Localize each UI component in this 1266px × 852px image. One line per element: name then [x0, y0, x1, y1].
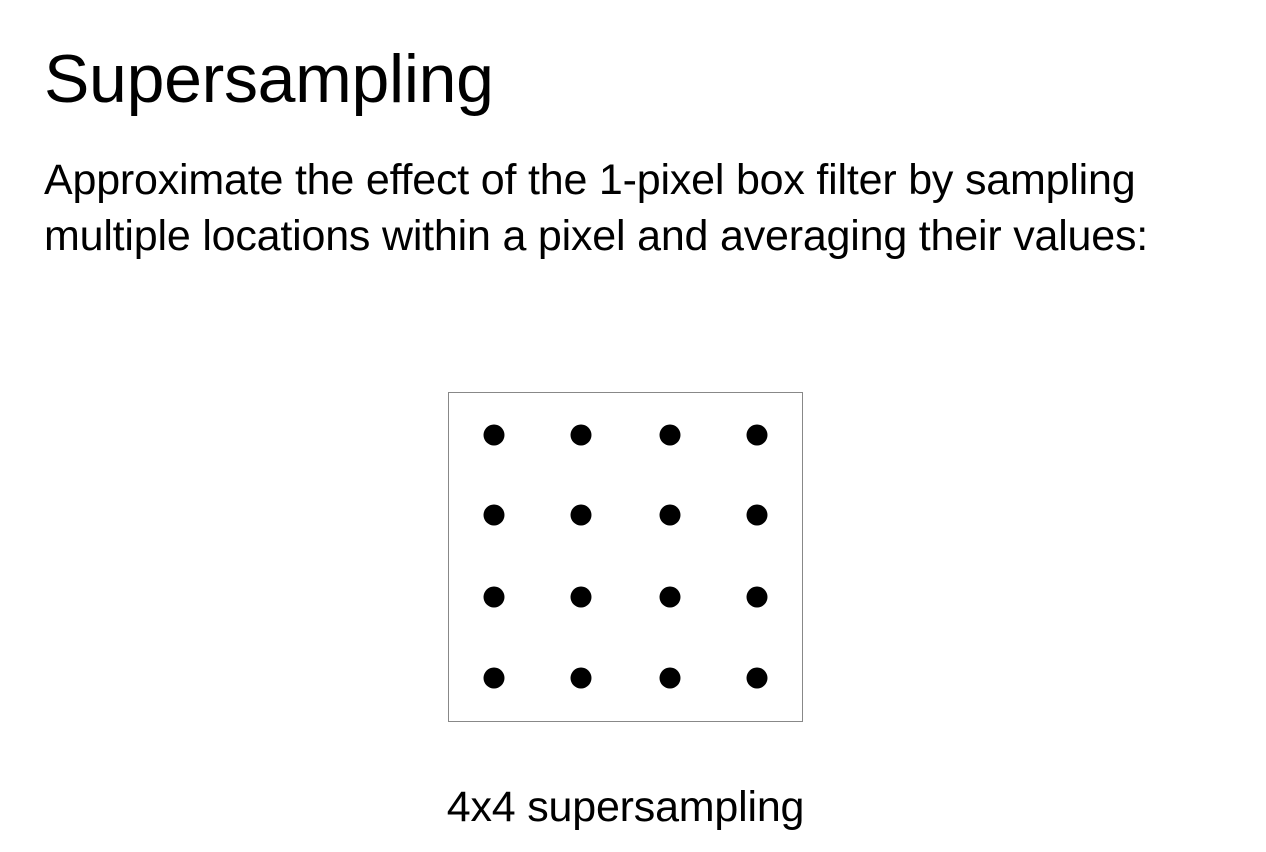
sample-point-dot	[659, 586, 680, 607]
sample-point-dot	[747, 424, 768, 445]
sample-point-dot	[571, 668, 592, 689]
sample-point-dot	[571, 505, 592, 526]
sample-point-dot	[571, 424, 592, 445]
sample-point-dot	[571, 586, 592, 607]
slide: Supersampling Approximate the effect of …	[0, 0, 1266, 852]
body-line-1: Approximate the effect of the 1-pixel bo…	[44, 152, 1249, 208]
sample-point-dot	[483, 668, 504, 689]
sample-point-dot	[483, 424, 504, 445]
figure-caption: 4x4 supersampling	[388, 782, 863, 832]
supersampling-figure: 4x4 supersampling	[448, 392, 803, 722]
sample-point-dot	[747, 586, 768, 607]
sample-point-dot	[659, 505, 680, 526]
sample-point-dot	[483, 505, 504, 526]
body-line-2: multiple locations within a pixel and av…	[44, 208, 1249, 264]
page-title: Supersampling	[44, 40, 494, 118]
sample-point-dot	[659, 424, 680, 445]
sample-point-dot	[747, 505, 768, 526]
sample-point-dot	[483, 586, 504, 607]
sample-point-dot	[659, 668, 680, 689]
pixel-box	[448, 392, 803, 722]
sample-point-dot	[747, 668, 768, 689]
body-text: Approximate the effect of the 1-pixel bo…	[44, 152, 1249, 264]
